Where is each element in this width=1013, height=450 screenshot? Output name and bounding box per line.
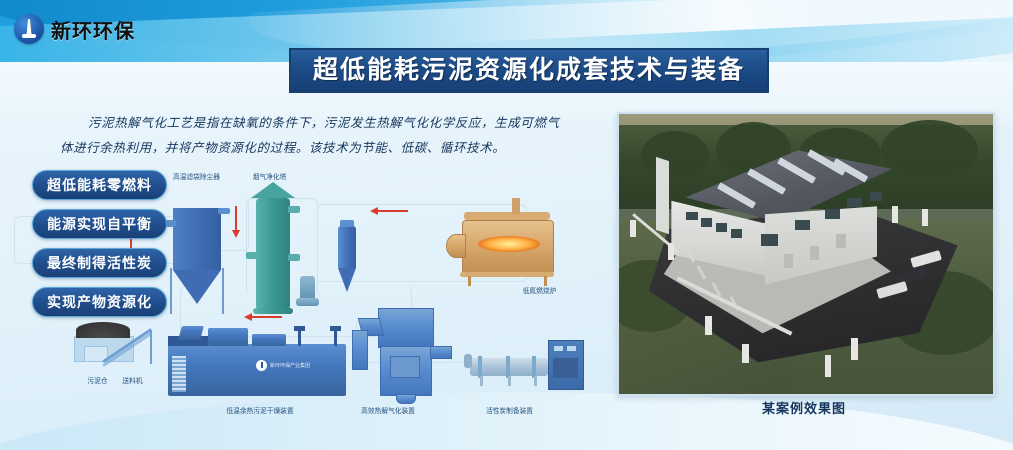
baghouse-cone [173, 270, 221, 304]
dryer-post [334, 330, 337, 346]
page-title-text: 超低能耗污泥资源化成套技术与装备 [313, 57, 745, 82]
gasifier-door [390, 356, 420, 378]
window [847, 198, 862, 207]
furnace-base [460, 272, 554, 277]
dryer-post [298, 330, 301, 346]
circle-figure-logo-icon [256, 360, 267, 371]
dryer-housing-a [208, 328, 248, 346]
kiln-inlet [464, 354, 472, 368]
feature-badge: 能源实现自平衡 [32, 209, 167, 239]
fence-post [892, 206, 898, 223]
gasifier-outlet [430, 346, 452, 359]
page-title: 超低能耗污泥资源化成套技术与装备 [289, 48, 769, 93]
baghouse-leg [222, 268, 224, 314]
diagram-label-furnace: 低氮燃烧炉 [523, 286, 557, 296]
window [686, 212, 697, 220]
diagram-label-feeder: 送料机 [122, 376, 142, 386]
diagram-label-dryer: 低温余热污泥干燥装置 [226, 406, 293, 416]
cyclone-cone [338, 268, 356, 292]
scrubber-inlet [246, 252, 258, 259]
scrubber-pump-base [296, 298, 319, 306]
tree [881, 120, 978, 182]
kiln-ring [478, 356, 482, 378]
photo-caption: 某案例效果图 [617, 398, 991, 417]
diagram-label-sludge-bin: 污泥仓 [87, 376, 107, 386]
arrow-down-icon [232, 230, 240, 238]
furnace-burner [446, 234, 466, 258]
furnace-top-plate [464, 212, 550, 220]
diagram-label-carbon: 活性炭制备装置 [486, 406, 533, 416]
intro-paragraph: 污泥热解气化工艺是指在缺氧的条件下，污泥发生热解气化化学反应，生成可燃气体进行余… [60, 110, 560, 160]
dryer-housing-b [252, 334, 286, 346]
cabinet-indicator [567, 346, 576, 351]
circle-figure-logo-icon [14, 14, 44, 44]
scrubber-pump [300, 276, 315, 300]
window [701, 218, 712, 227]
slide-root: 新环环保 超低能耗污泥资源化成套技术与装备 污泥热解气化工艺是指在缺氧的条件下，… [0, 0, 1013, 450]
building-stack [656, 157, 669, 234]
feature-badge-list: 超低能耗零燃料 能源实现自平衡 最终制得活性炭 实现产物资源化 [32, 170, 167, 317]
cyclone-inlet [340, 220, 354, 227]
baghouse-outlet [218, 208, 230, 214]
dryer-vent-grille [172, 356, 186, 392]
kiln-ring [532, 356, 536, 378]
fence-post [630, 220, 636, 237]
kiln-leg [534, 376, 537, 386]
brand-logo: 新环环保 [14, 14, 135, 44]
dryer-brand-logo: 新环环保产业集团 [256, 360, 310, 371]
scrubber-base [253, 308, 293, 314]
baghouse-body [173, 208, 221, 270]
door [810, 246, 820, 260]
furnace-flame [478, 236, 540, 252]
feature-badge: 实现产物资源化 [32, 287, 167, 317]
door [836, 234, 846, 248]
arrow-stem-down [235, 206, 237, 232]
diagram-label-scrubber: 烟气净化塔 [253, 172, 287, 182]
window [761, 234, 778, 245]
cyclone-body [338, 226, 356, 268]
fence-post [825, 355, 832, 377]
door [784, 254, 794, 268]
window [795, 220, 810, 230]
dryer-brand-text: 新环环保产业集团 [270, 362, 310, 369]
brand-name: 新环环保 [51, 15, 135, 44]
scrubber-top-cone [251, 182, 295, 198]
fence-post [668, 243, 674, 260]
furnace-stack [512, 198, 520, 214]
furnace-leg [468, 276, 471, 286]
gasifier-bottom-valve [396, 394, 416, 404]
arrow-stem-left-top [378, 210, 408, 212]
cabinet-indicator [554, 346, 563, 351]
diagram-label-gasifier: 高效热解气化装置 [361, 406, 415, 416]
fence-post [851, 338, 858, 360]
dryer-post-cap [330, 326, 341, 331]
feature-badge: 超低能耗零燃料 [32, 170, 167, 200]
title-band: 超低能耗污泥资源化成套技术与装备 [289, 48, 769, 93]
window [731, 229, 742, 239]
scrubber-drain [288, 254, 300, 261]
baghouse-leg [170, 268, 172, 314]
dryer-post-cap [294, 326, 305, 331]
scrubber-body [256, 198, 290, 310]
kiln-ring [506, 356, 510, 378]
gasifier-side-tank [352, 330, 368, 370]
gasifier-upper [378, 308, 434, 348]
kiln-leg [508, 376, 511, 386]
window [825, 209, 840, 219]
arrow-left-icon [244, 313, 252, 321]
sludge-pile [76, 322, 130, 338]
fence-post [742, 344, 749, 364]
cabinet-panel [553, 358, 578, 378]
scrubber-outlet [288, 206, 300, 213]
window [716, 223, 727, 232]
feeder-support [150, 330, 152, 364]
diagram-label-baghouse: 高温滤袋除尘器 [173, 172, 220, 182]
feature-badge: 最终制得活性炭 [32, 248, 167, 278]
kiln-leg [480, 376, 483, 386]
arrow-stem-left-bottom [252, 316, 282, 318]
arrow-left-icon [370, 207, 378, 215]
dryer-chute [178, 326, 204, 340]
fence-post [922, 209, 928, 226]
tree [641, 131, 708, 181]
fence-post [705, 316, 712, 336]
window [870, 192, 883, 200]
furnace-leg [544, 276, 547, 286]
case-photo [617, 112, 995, 396]
